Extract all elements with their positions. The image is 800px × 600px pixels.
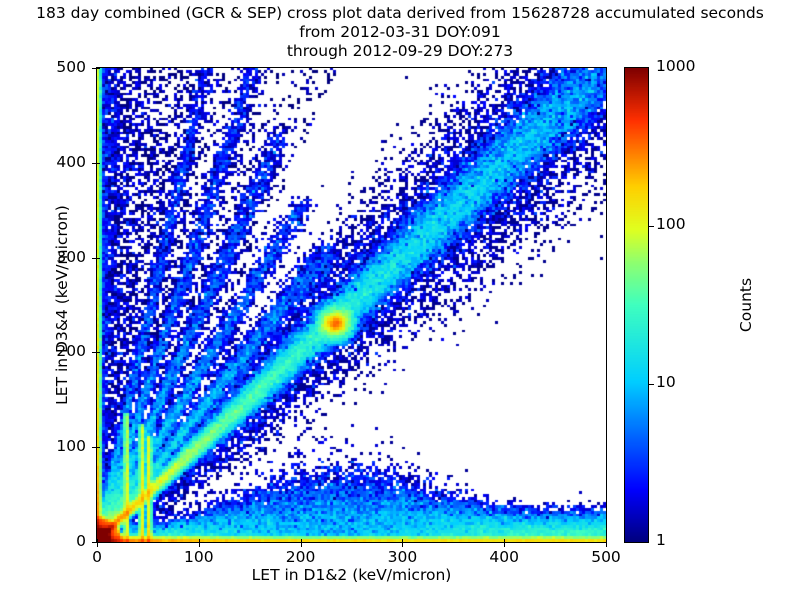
x-tick-inner [199, 539, 200, 543]
density-heatmap [97, 68, 606, 542]
x-tick-label: 0 [67, 548, 127, 566]
colorbar-tick-label: 1 [656, 531, 666, 549]
y-tick-inner [96, 68, 100, 69]
x-tick-label: 300 [372, 548, 432, 566]
y-axis-label: LET in D3&4 (keV/micron) [53, 95, 71, 515]
y-tick-inner [96, 542, 100, 543]
colorbar-tick [649, 384, 654, 385]
x-tick-label: 200 [271, 548, 331, 566]
x-tick [606, 543, 607, 547]
colorbar-tick-label: 1000 [656, 57, 695, 75]
colorbar [624, 67, 649, 543]
x-tick [504, 543, 505, 547]
plot-area [96, 67, 607, 543]
y-tick-label: 500 [36, 58, 86, 76]
x-tick-inner [504, 539, 505, 543]
title-line-1: 183 day combined (GCR & SEP) cross plot … [0, 4, 800, 23]
colorbar-label: Counts [737, 165, 755, 445]
x-tick-label: 400 [474, 548, 534, 566]
chart-title: 183 day combined (GCR & SEP) cross plot … [0, 4, 800, 61]
title-line-2: from 2012-03-31 DOY:091 [0, 23, 800, 42]
x-tick-inner [402, 539, 403, 543]
x-tick [402, 543, 403, 547]
x-tick [199, 543, 200, 547]
y-tick-label: 0 [36, 532, 86, 550]
x-tick-label: 100 [169, 548, 229, 566]
x-tick [301, 543, 302, 547]
y-tick-inner [96, 352, 100, 353]
colorbar-gradient [625, 68, 648, 542]
y-tick-inner [96, 258, 100, 259]
y-tick-inner [96, 447, 100, 448]
x-axis-label: LET in D1&2 (keV/micron) [96, 566, 607, 584]
colorbar-tick-label: 100 [656, 215, 686, 233]
x-tick-inner [301, 539, 302, 543]
x-tick-label: 500 [576, 548, 636, 566]
x-tick-inner [606, 539, 607, 543]
figure-canvas: 183 day combined (GCR & SEP) cross plot … [0, 0, 800, 600]
colorbar-tick-label: 10 [656, 373, 676, 391]
x-tick [97, 543, 98, 547]
colorbar-tick [649, 226, 654, 227]
y-tick-inner [96, 163, 100, 164]
